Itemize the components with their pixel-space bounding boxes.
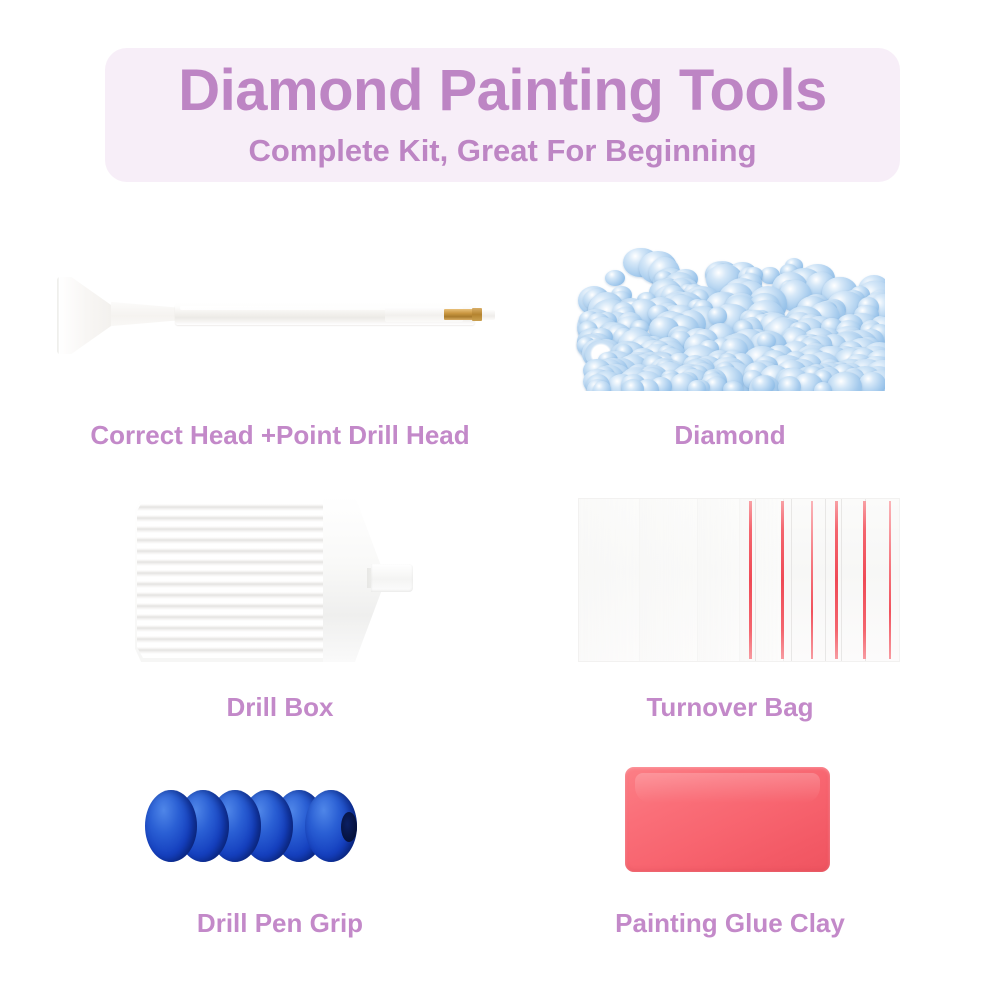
bag-panel — [697, 499, 740, 661]
bag-panel — [639, 499, 698, 661]
pen-neck — [111, 295, 181, 333]
bag-seal-stripe — [863, 501, 866, 659]
diamond-bead — [752, 376, 775, 392]
product-cell-drill-pen-grip: Drill Pen Grip — [30, 760, 530, 960]
diamond-bead — [723, 381, 743, 391]
page-subtitle: Complete Kit, Great For Beginning — [248, 135, 756, 166]
diamond-bead — [708, 307, 727, 324]
bag-fold — [825, 499, 826, 661]
header-banner: Diamond Painting Tools Complete Kit, Gre… — [105, 48, 900, 182]
product-label-turnover-bag: Turnover Bag — [530, 692, 930, 723]
bag-fold — [791, 499, 792, 661]
bag-fold — [841, 499, 842, 661]
product-cell-painting-glue-clay: Painting Glue Clay — [530, 760, 930, 960]
tray-spout — [371, 564, 413, 592]
diamond-bead — [859, 372, 885, 391]
product-cell-drill-box: Drill Box — [30, 490, 530, 730]
product-cell-turnover-bag: Turnover Bag — [530, 490, 930, 730]
grip-segment — [145, 790, 197, 862]
bag-fold — [755, 499, 756, 661]
product-label-drill-pen-grip: Drill Pen Grip — [30, 908, 530, 939]
product-cell-correct-head-point-drill-head: Correct Head +Point Drill Head — [30, 255, 530, 455]
product-label-correct-head-point-drill-head: Correct Head +Point Drill Head — [30, 420, 530, 451]
product-label-drill-box: Drill Box — [30, 692, 530, 723]
clay-gloss-highlight — [635, 773, 820, 803]
diamond-bead — [622, 379, 644, 391]
product-cell-diamond: Diamond — [530, 255, 930, 455]
grip-bore-hole — [341, 812, 357, 842]
pen-correct-head — [59, 277, 115, 354]
pen-point-drill-head — [472, 308, 482, 321]
drill-pen-icon — [55, 265, 495, 385]
pen-grip-icon — [145, 790, 360, 870]
drill-tray-icon — [135, 492, 410, 667]
glue-clay-icon — [625, 767, 830, 872]
diamond-bead — [778, 376, 801, 391]
diamond-drills-icon — [575, 243, 885, 391]
bag-panel — [739, 499, 784, 661]
bag-seal-stripe — [749, 501, 752, 659]
page-title: Diamond Painting Tools — [178, 62, 826, 120]
diamond-bead — [605, 270, 625, 286]
product-label-diamond: Diamond — [530, 420, 930, 451]
zip-bag-icon — [578, 498, 900, 662]
bag-seal-stripe — [835, 501, 838, 659]
diamond-bead — [688, 380, 706, 391]
bag-seal-stripe — [781, 501, 784, 659]
bag-panel — [579, 499, 640, 661]
bag-seal-stripe — [889, 501, 891, 659]
grip-segment — [305, 790, 357, 862]
bag-seal-stripe — [811, 501, 813, 659]
tray-ridges — [137, 500, 337, 658]
product-label-painting-glue-clay: Painting Glue Clay — [530, 908, 930, 939]
